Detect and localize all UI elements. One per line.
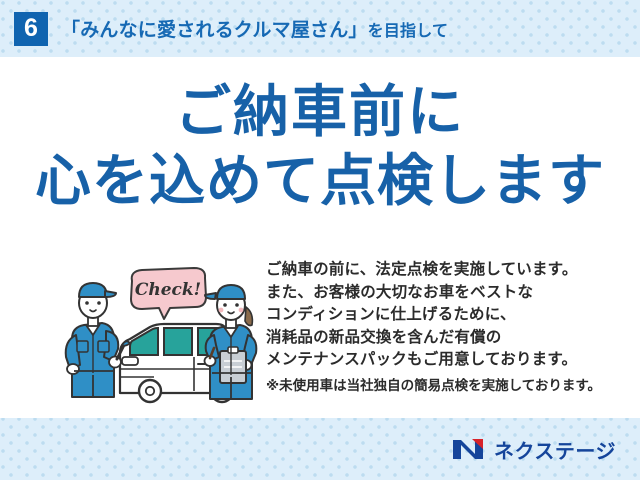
header-title-tail: を目指して — [368, 23, 449, 40]
speech-bubble-text: Check! — [135, 280, 201, 300]
nexstage-n-icon — [452, 437, 486, 461]
headline-line-2: 心を込めて点検します — [0, 153, 640, 210]
body-line: コンディションに仕上げるために、 — [266, 303, 636, 326]
check-speech-bubble: Check! — [131, 268, 206, 319]
mechanic-right — [205, 285, 257, 399]
brand-logo: ネクステージ — [452, 435, 616, 464]
page-title: ご納車前に 心を込めて点検します — [0, 84, 640, 210]
brand-name: ネクステージ — [494, 435, 616, 464]
content-panel: ご納車前に 心を込めて点検します ご納車の前に、法定点検を実施しています。 また… — [0, 57, 640, 418]
body-footnote: ※未使用車は当社独自の簡易点検を実施しております。 — [266, 375, 636, 398]
body-line: 消耗品の新品交換を含んだ有償の — [266, 326, 636, 349]
section-number-badge: 6 — [14, 12, 48, 46]
mechanics-illustration: Check! — [58, 265, 263, 405]
advertisement-banner: 6 「みんなに愛されるクルマ屋さん」を目指して ご納車前に 心を込めて点検します… — [0, 0, 640, 480]
header-title-quoted: 「みんなに愛されるクルマ屋さん」 — [61, 20, 368, 41]
body-line: メンテナンスパックもご用意しております。 — [266, 348, 636, 371]
body-line: ご納車の前に、法定点検を実施しています。 — [266, 258, 636, 281]
header-title: 「みんなに愛されるクルマ屋さん」を目指して — [61, 15, 448, 42]
header-bar: 6 「みんなに愛されるクルマ屋さん」を目指して — [0, 0, 640, 57]
footer-bar: ネクステージ — [0, 418, 640, 480]
headline-line-1: ご納車前に — [0, 84, 640, 141]
body-copy: ご納車の前に、法定点検を実施しています。 また、お客様の大切なお車をベストな コ… — [266, 258, 636, 397]
body-line: また、お客様の大切なお車をベストな — [266, 281, 636, 304]
